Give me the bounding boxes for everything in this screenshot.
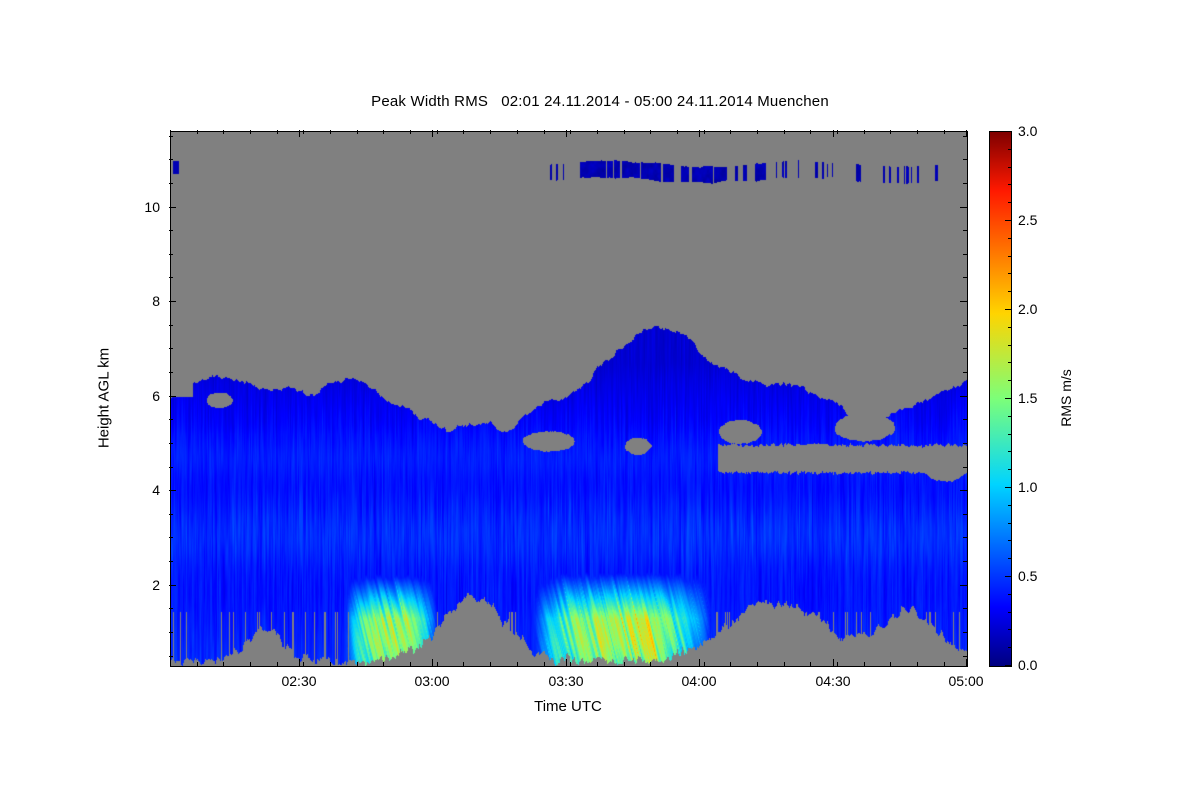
colorbar-tick-label: 0.5 <box>1018 568 1037 584</box>
colorbar-tick-label: 2.5 <box>1018 212 1037 228</box>
page-title: Peak Width RMS 02:01 24.11.2014 - 05:00 … <box>0 93 1200 110</box>
x-tick-label: 03:30 <box>548 673 583 689</box>
y-tick-label: 8 <box>152 293 160 309</box>
plot-axes[interactable] <box>170 131 968 667</box>
colorbar-title: RMS m/s <box>1058 369 1074 427</box>
x-axis-title: Time UTC <box>170 698 966 715</box>
colorbar-gradient <box>990 132 1011 666</box>
x-tick-label: 04:00 <box>681 673 716 689</box>
heatmap-data <box>171 132 967 666</box>
x-tick-label: 03:00 <box>414 673 449 689</box>
colorbar-tick-label: 2.0 <box>1018 301 1037 317</box>
colorbar-tick-label: 3.0 <box>1018 123 1037 139</box>
colorbar[interactable] <box>989 131 1012 667</box>
y-tick-label: 2 <box>152 577 160 593</box>
y-axis-title: Height AGL km <box>96 348 113 448</box>
x-tick-label: 05:00 <box>948 673 983 689</box>
figure-canvas: Peak Width RMS 02:01 24.11.2014 - 05:00 … <box>0 0 1200 800</box>
x-tick-label: 04:30 <box>815 673 850 689</box>
colorbar-tick-label: 0.0 <box>1018 657 1037 673</box>
x-tick-label: 02:30 <box>281 673 316 689</box>
colorbar-tick-label: 1.0 <box>1018 479 1037 495</box>
y-tick-label: 4 <box>152 482 160 498</box>
colorbar-tick-label: 1.5 <box>1018 390 1037 406</box>
y-tick-label: 6 <box>152 388 160 404</box>
y-tick-label: 10 <box>144 199 160 215</box>
